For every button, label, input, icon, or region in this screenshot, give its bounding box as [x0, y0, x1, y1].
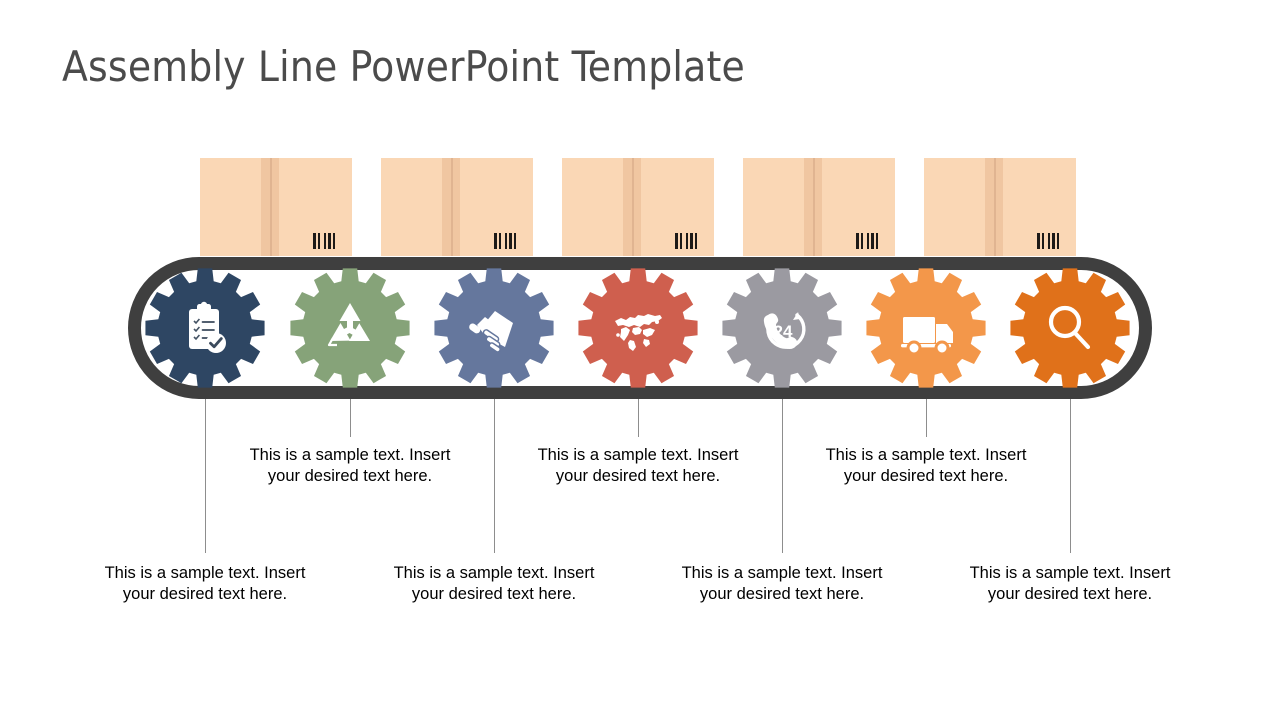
barcode-icon [675, 233, 697, 249]
box-seam-line [994, 158, 996, 256]
barcode-icon [313, 233, 335, 249]
gear-recycle[interactable] [289, 267, 411, 389]
gear-clipboard-check[interactable] [144, 267, 266, 389]
gear-shape [1010, 268, 1129, 387]
svg-text:24: 24 [774, 322, 793, 341]
box-seam-line [632, 158, 634, 256]
slide-canvas: Assembly Line PowerPoint Template 24 Thi… [0, 0, 1280, 720]
caption-text[interactable]: This is a sample text. Insert your desir… [533, 445, 743, 486]
cardboard-box [381, 158, 533, 256]
caption-text[interactable]: This is a sample text. Insert your desir… [677, 563, 887, 604]
connector-line [926, 399, 927, 437]
caption-text[interactable]: This is a sample text. Insert your desir… [389, 563, 599, 604]
gear-phone-24h[interactable]: 24 [721, 267, 843, 389]
gear-world-map[interactable] [577, 267, 699, 389]
caption-text[interactable]: This is a sample text. Insert your desir… [245, 445, 455, 486]
cardboard-box [743, 158, 895, 256]
caption-text[interactable]: This is a sample text. Insert your desir… [821, 445, 1031, 486]
cardboard-box [562, 158, 714, 256]
barcode-icon [1037, 233, 1059, 249]
box-seam-line [813, 158, 815, 256]
box-seam-line [270, 158, 272, 256]
caption-text[interactable]: This is a sample text. Insert your desir… [965, 563, 1175, 604]
gear-handshake[interactable] [433, 267, 555, 389]
connector-line [205, 399, 206, 553]
connector-line [1070, 399, 1071, 553]
page-title: Assembly Line PowerPoint Template [62, 42, 745, 91]
cardboard-box [924, 158, 1076, 256]
connector-line [494, 399, 495, 553]
caption-text[interactable]: This is a sample text. Insert your desir… [100, 563, 310, 604]
connector-line [638, 399, 639, 437]
cardboard-box [200, 158, 352, 256]
connector-line [350, 399, 351, 437]
connector-line [782, 399, 783, 553]
gear-delivery-truck[interactable] [865, 267, 987, 389]
barcode-icon [494, 233, 516, 249]
barcode-icon [856, 233, 878, 249]
box-seam-line [451, 158, 453, 256]
gear-magnifier[interactable] [1009, 267, 1131, 389]
